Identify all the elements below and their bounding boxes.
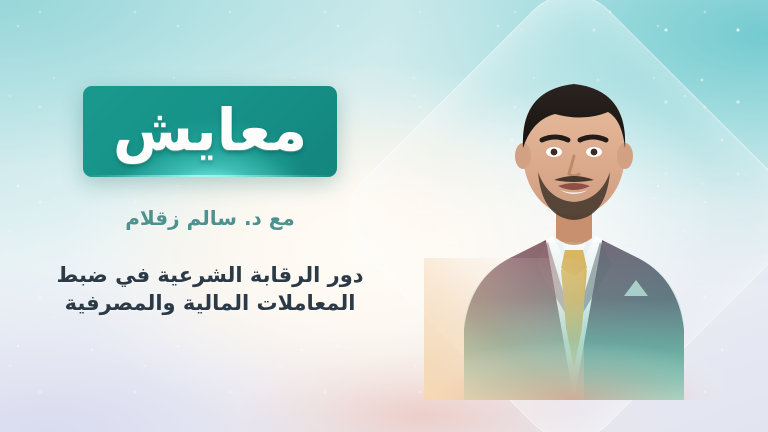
talk-title-line-2: المعاملات المالية والمصرفية — [30, 290, 390, 318]
program-logo-plate: معايش — [83, 86, 337, 177]
presenter-portrait — [424, 28, 724, 400]
program-logo-text: معايش — [83, 86, 337, 177]
presenter-name: مع د. سالم زقلام — [40, 206, 380, 230]
program-card-stage: معايش مع د. سالم زقلام دور الرقابة الشرع… — [0, 0, 768, 432]
portrait-head — [515, 84, 633, 220]
talk-title: دور الرقابة الشرعية في ضبط المعاملات الم… — [30, 262, 390, 318]
talk-title-line-1: دور الرقابة الشرعية في ضبط — [30, 262, 390, 290]
